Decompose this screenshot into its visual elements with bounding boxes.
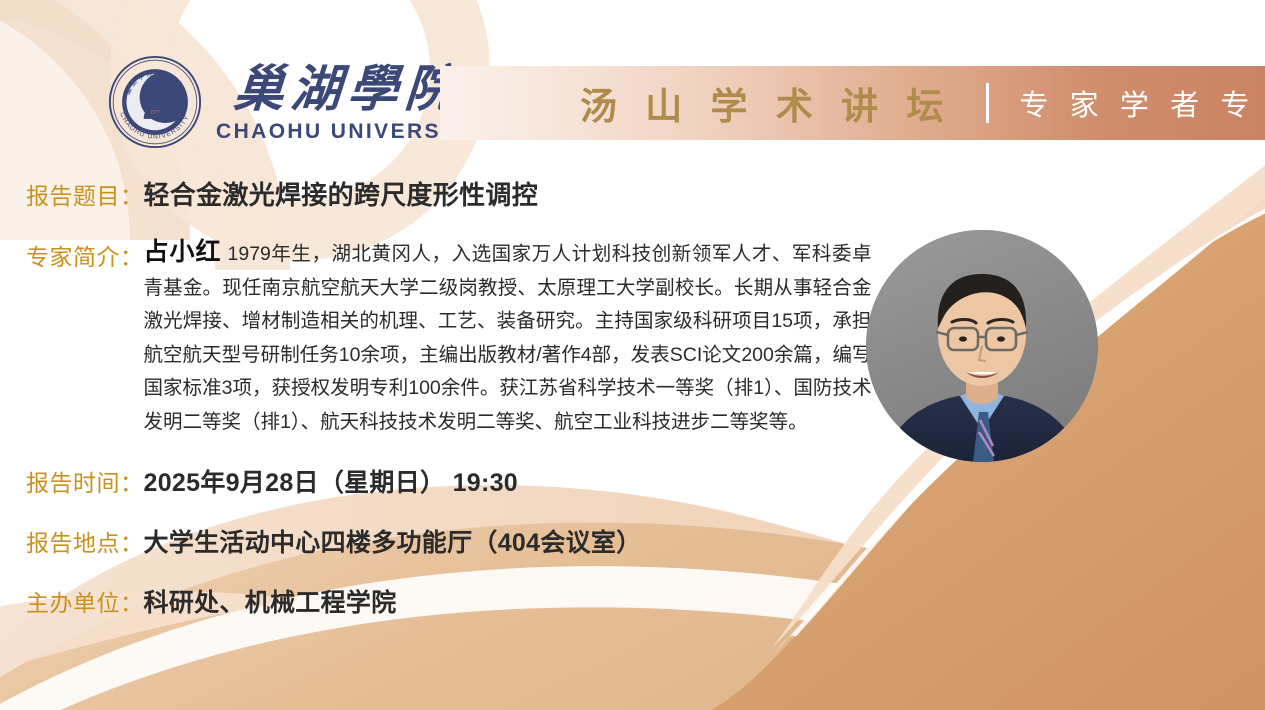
row-speaker-bio: 专家简介： 占小红 1979年生，湖北黄冈人，入选国家万人计划科技创新领军人才、…: [26, 236, 872, 439]
svg-text:1977: 1977: [150, 110, 160, 115]
speaker-portrait: [866, 230, 1098, 462]
label-report-time: 报告时间：: [26, 464, 144, 498]
speaker-name: 占小红: [144, 238, 222, 266]
label-speaker-bio: 专家简介：: [26, 238, 144, 272]
row-report-time: 报告时间： 2025年9月28日（星期日） 19:30: [26, 463, 518, 499]
logo-name-cn: 巢湖學院: [233, 64, 464, 114]
banner-main-title: 汤 山 学 术 讲 坛: [580, 76, 952, 130]
chaohu-university-seal-icon: 1977 巢 湖 学 院 CHAOHU UNIVERSITY: [108, 55, 202, 149]
row-report-place: 报告地点： 大学生活动中心四楼多功能厅（404会议室）: [26, 523, 642, 559]
value-report-title: 轻合金激光焊接的跨尺度形性调控: [144, 175, 539, 212]
forum-banner: 汤 山 学 术 讲 坛 专 家 学 者 专 场: [440, 66, 1265, 140]
label-organizer: 主办单位：: [26, 584, 144, 618]
banner-subtitle: 专 家 学 者 专 场: [1019, 82, 1265, 124]
row-organizer: 主办单位： 科研处、机械工程学院: [26, 583, 397, 619]
speaker-bio-text: 占小红 1979年生，湖北黄冈人，入选国家万人计划科技创新领军人才、军科委卓青基…: [144, 236, 872, 439]
label-report-place: 报告地点：: [26, 524, 144, 558]
label-report-title: 报告题目：: [26, 177, 144, 211]
row-report-title: 报告题目： 轻合金激光焊接的跨尺度形性调控: [26, 175, 538, 212]
seminar-poster: 1977 巢 湖 学 院 CHAOHU UNIVERSITY 巢湖學院 CHAO…: [0, 0, 1265, 710]
poster-header: 1977 巢 湖 学 院 CHAOHU UNIVERSITY 巢湖學院 CHAO…: [0, 0, 1265, 158]
speaker-portrait-photo-icon: [866, 230, 1098, 462]
value-organizer: 科研处、机械工程学院: [144, 583, 397, 619]
speaker-bio-paragraph: 1979年生，湖北黄冈人，入选国家万人计划科技创新领军人才、军科委卓青基金。现任…: [144, 243, 872, 433]
university-logo: 1977 巢 湖 学 院 CHAOHU UNIVERSITY 巢湖學院 CHAO…: [108, 55, 481, 149]
value-report-time: 2025年9月28日（星期日） 19:30: [144, 463, 519, 499]
value-report-place: 大学生活动中心四楼多功能厅（404会议室）: [144, 523, 642, 559]
banner-divider: [986, 83, 989, 123]
